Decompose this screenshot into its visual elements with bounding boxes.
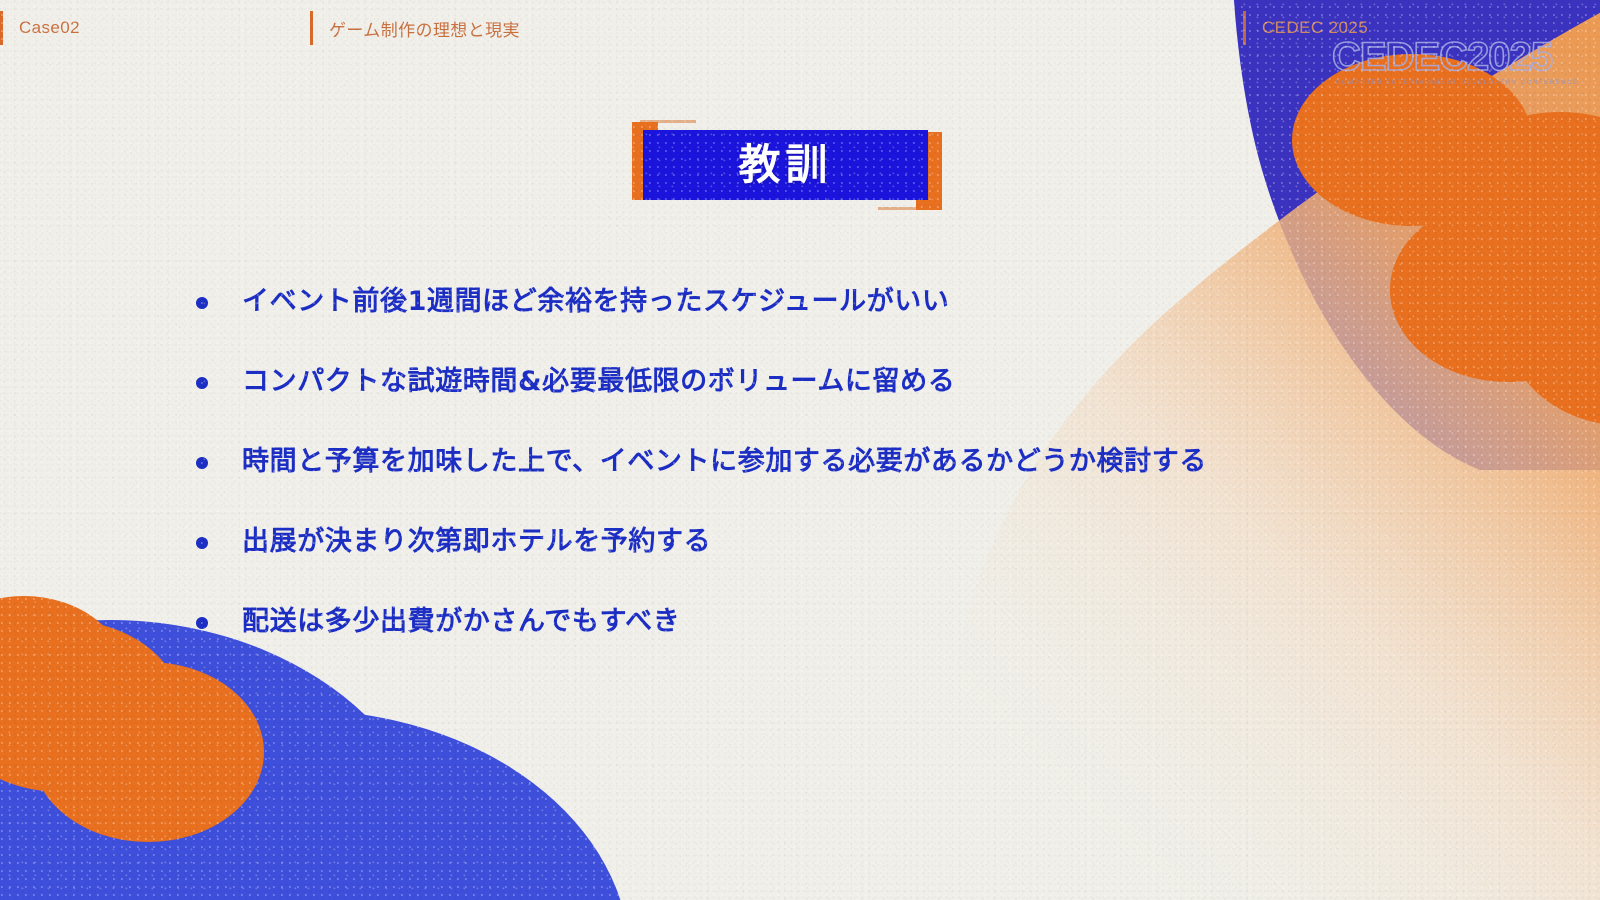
list-item-label: 配送は多少出費がかさんでもすべき xyxy=(242,602,680,641)
page-title: 教訓 xyxy=(738,144,832,186)
list-item: 時間と予算を加味した上で、イベントに参加する必要があるかどうか検討する xyxy=(196,442,1526,522)
header-topic-tag: ゲーム制作の理想と現実 xyxy=(310,11,520,45)
bullet-dot-icon xyxy=(196,457,208,469)
header-case-label: Case02 xyxy=(19,18,80,38)
list-item: 配送は多少出費がかさんでもすべき xyxy=(196,602,1526,682)
list-item-label: イベント前後1週間ほど余裕を持ったスケジュールがいい xyxy=(242,282,950,321)
bullet-dot-icon xyxy=(196,297,208,309)
list-item-label: 出展が決まり次第即ホテルを予約する xyxy=(242,522,711,561)
list-item: コンパクトな試遊時間&必要最低限のボリュームに留める xyxy=(196,362,1526,442)
list-item-label: コンパクトな試遊時間&必要最低限のボリュームに留める xyxy=(242,362,955,401)
title-plate-background: 教訓 xyxy=(643,130,928,200)
slide-header: Case02 ゲーム制作の理想と現実 CEDEC 2025 xyxy=(0,0,1600,56)
list-item: イベント前後1週間ほど余裕を持ったスケジュールがいい xyxy=(196,282,1526,362)
slide-title-plate: 教訓 xyxy=(632,118,942,210)
header-rule-icon xyxy=(0,11,3,45)
bullet-dot-icon xyxy=(196,377,208,389)
presentation-slide: Case02 ゲーム制作の理想と現実 CEDEC 2025 CEDEC2025 … xyxy=(0,0,1600,900)
header-topic-label: ゲーム制作の理想と現実 xyxy=(329,16,520,41)
header-event-label: CEDEC 2025 xyxy=(1262,18,1368,38)
header-rule-icon xyxy=(310,11,313,45)
list-item-label: 時間と予算を加味した上で、イベントに参加する必要があるかどうか検討する xyxy=(242,442,1207,481)
header-rule-icon xyxy=(1243,11,1246,45)
bullet-dot-icon xyxy=(196,617,208,629)
bullet-dot-icon xyxy=(196,537,208,549)
header-case-tag: Case02 xyxy=(0,11,80,45)
lessons-bullet-list: イベント前後1週間ほど余裕を持ったスケジュールがいい コンパクトな試遊時間&必要… xyxy=(196,282,1526,682)
header-event-tag: CEDEC 2025 xyxy=(1243,11,1368,45)
cedec-logo-subline: COMPUTER ENTERTAINMENT DEVELOPERS CONFER… xyxy=(1336,80,1579,86)
list-item: 出展が決まり次第即ホテルを予約する xyxy=(196,522,1526,602)
